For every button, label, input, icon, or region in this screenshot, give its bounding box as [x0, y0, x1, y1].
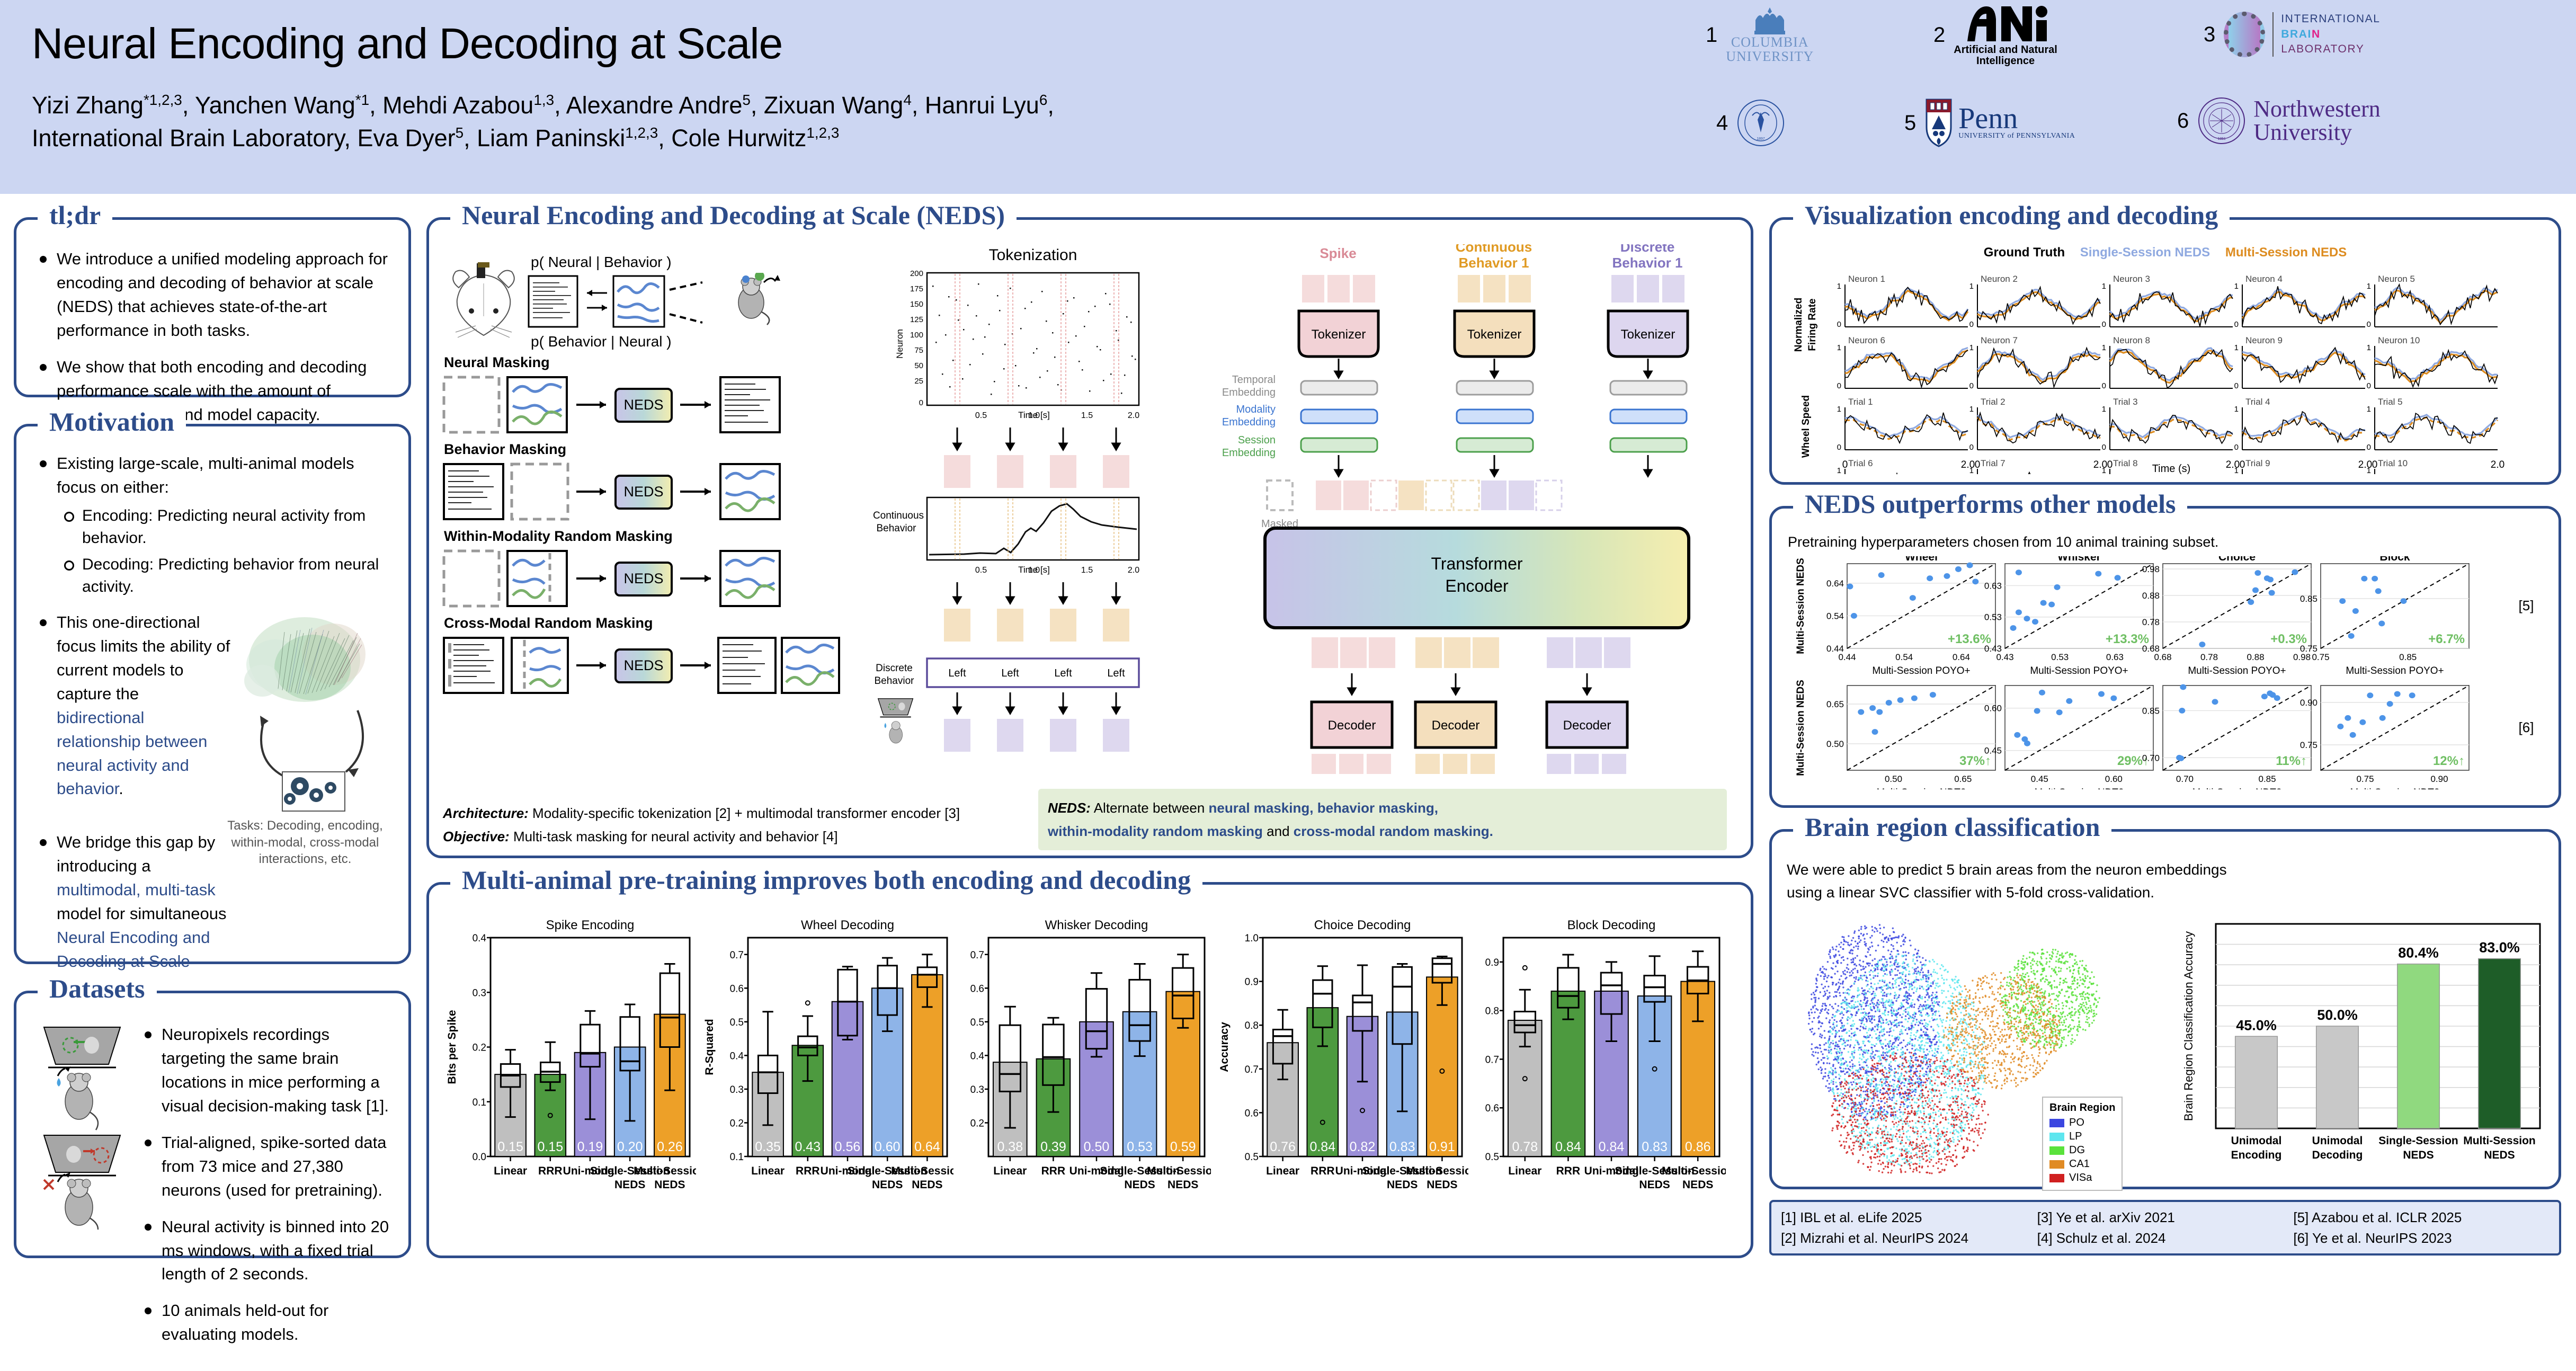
svg-text:1: 1 — [1969, 405, 1974, 414]
reference-item: [5] Azabou et al. ICLR 2025 — [2293, 1207, 2550, 1228]
column-header-continuous-l2: Behavior 1 — [1459, 255, 1529, 271]
modality-embedding-label-l2: Embedding — [1222, 416, 1276, 428]
svg-text:0.85: 0.85 — [2399, 652, 2417, 662]
svg-text:Left: Left — [1107, 667, 1125, 679]
list-item: Trial-aligned, spike-sorted data from 73… — [139, 1131, 390, 1203]
legend-multi-session: Multi-Session NEDS — [2225, 245, 2347, 260]
svg-text:0.85: 0.85 — [2300, 594, 2317, 604]
motivation-bullet-1: Existing large-scale, multi-animal model… — [57, 454, 354, 496]
svg-text:0.2: 0.2 — [970, 1118, 984, 1129]
svg-text:Left: Left — [948, 667, 966, 679]
legend-ground-truth: Ground Truth — [1984, 245, 2065, 260]
task-icon-small — [878, 699, 913, 743]
svg-text:0.7: 0.7 — [970, 950, 984, 961]
list-item: Existing large-scale, multi-animal model… — [34, 452, 390, 598]
svg-text:0.70: 0.70 — [2142, 753, 2160, 763]
svg-text:0.76: 0.76 — [1270, 1139, 1296, 1154]
motivation-b2-a: This one-directional focus limits the ab… — [57, 613, 230, 703]
svg-text:Decoder: Decoder — [1563, 718, 1611, 733]
svg-text:0.54: 0.54 — [1895, 652, 1913, 662]
architecture-objective-notes: Architecture: Modality-specific tokeniza… — [443, 802, 1015, 848]
masking-diagram-cross-modal: NEDS — [441, 634, 849, 697]
svg-text:0: 0 — [2102, 381, 2106, 390]
svg-text:0.19: 0.19 — [577, 1139, 603, 1154]
svg-text:0.45: 0.45 — [1984, 746, 2002, 756]
svg-text:0.90: 0.90 — [2430, 774, 2448, 784]
author-line-1: Yizi Zhang*1,2,3, Yanchen Wang*1, Mehdi … — [32, 89, 1409, 122]
datasets-bullet-list: Neuropixels recordings targeting the sam… — [139, 1023, 390, 1359]
penn-shield-icon — [1924, 99, 1953, 147]
svg-text:0.43: 0.43 — [1996, 652, 2013, 662]
svg-text:0.2: 0.2 — [730, 1118, 744, 1129]
svg-text:0.9: 0.9 — [1485, 957, 1499, 968]
reference-item: [2] Mizrahi et al. NeurIPS 2024 — [1781, 1228, 2037, 1249]
svg-text:0.0: 0.0 — [473, 1152, 486, 1163]
list-item: 10 animals held-out for evaluating model… — [139, 1299, 390, 1347]
svg-text:Whisker: Whisker — [2057, 556, 2101, 563]
svg-text:0.83: 0.83 — [1389, 1139, 1415, 1154]
svg-text:0.5: 0.5 — [975, 411, 987, 420]
svg-text:0.4: 0.4 — [730, 1050, 744, 1062]
arrow-right — [346, 710, 363, 772]
svg-text:1.5: 1.5 — [1081, 411, 1093, 420]
svg-text:1: 1 — [2102, 405, 2106, 414]
svg-text:1: 1 — [1969, 282, 1974, 291]
svg-text:11%↑: 11%↑ — [2276, 754, 2307, 768]
svg-text:0.5: 0.5 — [970, 1017, 984, 1028]
neds-note-highlight-1: neural masking, behavior masking, — [1209, 800, 1438, 816]
svg-text:0.53: 0.53 — [1984, 612, 2002, 622]
svg-text:0: 0 — [2372, 459, 2378, 470]
svg-text:Multi-Session NEDS: Multi-Session NEDS — [1795, 558, 1806, 654]
svg-text:0.53: 0.53 — [2051, 652, 2069, 662]
svg-text:0.3: 0.3 — [970, 1084, 984, 1096]
svg-text:Tokenizer: Tokenizer — [1621, 327, 1675, 342]
masking-row-cross-modal: Cross-Modal Random Masking NEDS — [441, 615, 859, 700]
svg-text:0.20: 0.20 — [617, 1139, 643, 1154]
motivation-bullet-2-list: This one-directional focus limits the ab… — [34, 611, 230, 802]
svg-text:Linear: Linear — [993, 1165, 1027, 1177]
columbia-line-2: UNIVERSITY — [1726, 49, 1814, 64]
svg-text:0.35: 0.35 — [755, 1139, 781, 1154]
svg-text:Wheel Decoding: Wheel Decoding — [801, 918, 894, 932]
ani-mark-icon — [1963, 3, 2048, 44]
discrete-behavior-label-l1: Discrete — [876, 663, 913, 674]
panel-references: [1] IBL et al. eLife 2025 [2] Mizrahi et… — [1769, 1200, 2561, 1256]
svg-text:0.6: 0.6 — [1485, 1103, 1499, 1114]
list-item: We introduce a unified modeling approach… — [34, 247, 390, 343]
svg-text:0.3: 0.3 — [730, 1084, 744, 1096]
svg-text:0.3: 0.3 — [473, 987, 486, 999]
input-tokens-discrete — [1611, 275, 1684, 302]
neds-note-b: and — [1263, 823, 1294, 839]
continuous-behavior-label-l2: Behavior — [877, 523, 917, 534]
masking-schematics: p( Neural | Behavior ) — [441, 250, 859, 700]
outperform-scatter-grid: Multi-Session NEDS[5]Wheel0.440.540.640.… — [1785, 556, 2542, 789]
modality-embedding-bars — [1301, 409, 1687, 423]
panel-title-motivation: Motivation — [38, 408, 186, 435]
svg-text:NEDS: NEDS — [623, 397, 663, 413]
svg-text:0: 0 — [1837, 443, 1841, 452]
panel-title-tldr: tl;dr — [38, 202, 112, 228]
affiliation-number: 1 — [1706, 23, 1717, 47]
legend-swatch-po — [2049, 1119, 2064, 1127]
svg-text:0: 0 — [1969, 320, 1974, 329]
svg-text:0: 0 — [1969, 443, 1974, 452]
svg-text:0.75: 0.75 — [2356, 774, 2374, 784]
svg-text:0.60: 0.60 — [1984, 704, 2002, 714]
svg-text:Multi-Session: Multi-Session — [634, 1165, 696, 1177]
svg-text:Neuron 6: Neuron 6 — [1848, 335, 1885, 345]
panel-title-outperf: NEDS outperforms other models — [1793, 491, 2187, 517]
svg-text:150: 150 — [910, 300, 923, 309]
svg-text:Wheel: Wheel — [1905, 556, 1938, 563]
svg-text:37%↑: 37%↑ — [1959, 754, 1991, 768]
brain-illustration — [244, 617, 366, 702]
affiliation-number: 3 — [2204, 23, 2215, 47]
pretraining-bar-charts: Spike EncodingBits per Spike0.00.10.20.3… — [442, 915, 1726, 1241]
temporal-embedding-label-l2: Embedding — [1222, 387, 1276, 398]
panel-visualization: Visualization encoding and decoding Grou… — [1769, 217, 2561, 485]
svg-text:Multi-Session NDT2: Multi-Session NDT2 — [2192, 787, 2282, 789]
northwestern-line-1: Northwestern — [2253, 97, 2381, 121]
svg-text:Neuron 7: Neuron 7 — [1981, 335, 2018, 345]
svg-text:RRR: RRR — [796, 1165, 820, 1177]
svg-text:1.5: 1.5 — [1081, 566, 1093, 575]
legend-item: DG — [2049, 1144, 2115, 1156]
columbia-crown-icon — [1749, 6, 1790, 35]
affiliation-penn: 5 Penn UNIVERSITY of PENNSYLVANIA — [1904, 99, 2075, 147]
spike-raster-plot: 200175150 12510075 50250 Neuron — [895, 269, 1139, 420]
svg-text:0.54: 0.54 — [1826, 611, 1844, 621]
svg-text:0: 0 — [2102, 443, 2106, 452]
svg-text:0.44: 0.44 — [1838, 652, 1856, 662]
affiliation-number: 2 — [1933, 23, 1945, 47]
svg-text:0.85: 0.85 — [2142, 706, 2160, 716]
legend-swatch-lp — [2049, 1133, 2064, 1141]
continuous-behavior-label-l1: Continuous — [873, 510, 924, 521]
affiliation-number: 6 — [2177, 109, 2189, 133]
encoding-decoding-boxes — [528, 274, 718, 332]
chart-whisker-decoding: Whisker Decoding0.20.30.40.50.60.70.38Li… — [957, 915, 1211, 1241]
svg-text:Multi-Session NDT2: Multi-Session NDT2 — [2350, 787, 2440, 789]
svg-text:0.5: 0.5 — [975, 566, 987, 575]
discrete-behavior-box: LeftLeftLeftLeft — [927, 658, 1139, 687]
svg-text:Multi-Session NEDS: Multi-Session NEDS — [1795, 680, 1806, 776]
legend-item: VISa — [2049, 1172, 2115, 1184]
svg-text:Neuron 9: Neuron 9 — [2245, 335, 2283, 345]
ani-line-2: Intelligence — [1954, 56, 2057, 67]
svg-text:0.83: 0.83 — [1642, 1139, 1668, 1154]
svg-text:0: 0 — [2234, 443, 2239, 452]
task-schematic — [34, 1023, 130, 1230]
svg-text:NEDS: NEDS — [623, 484, 663, 500]
svg-text:2.0: 2.0 — [2358, 459, 2372, 470]
svg-text:0.88: 0.88 — [2142, 591, 2160, 601]
ani-logo: Artificial and Natural Intelligence — [1954, 3, 2057, 67]
panel-neds-architecture: Neural Encoding and Decoding at Scale (N… — [426, 217, 1753, 858]
svg-text:0.84: 0.84 — [1309, 1139, 1335, 1154]
svg-text:0.26: 0.26 — [657, 1139, 683, 1154]
p-behavior-given-neural: p( Behavior | Neural ) — [531, 333, 672, 350]
svg-text:Trial 5: Trial 5 — [2378, 397, 2403, 407]
masking-diagram-behavior: NEDS — [441, 460, 849, 523]
svg-text:0.75: 0.75 — [2312, 652, 2329, 662]
svg-text:0.88: 0.88 — [2247, 652, 2264, 662]
svg-text:Neuron 5: Neuron 5 — [2378, 274, 2415, 284]
svg-text:Linear: Linear — [1266, 1165, 1299, 1177]
svg-text:1851: 1851 — [2217, 137, 2226, 141]
brain-subtitle-line-2: using a linear SVC classifier with 5-fol… — [1787, 881, 2227, 904]
output-token-row — [1312, 637, 1630, 668]
reference-column-3: [5] Azabou et al. ICLR 2025 [6] Ye et al… — [2293, 1207, 2550, 1249]
svg-text:Multi-Session POYO+: Multi-Session POYO+ — [2346, 665, 2444, 676]
mouse-wheel-icon — [724, 273, 787, 326]
chart-wheel-decoding: Wheel DecodingR-Squared0.10.20.30.40.50.… — [699, 915, 953, 1241]
panel-title-pretrain: Multi-animal pre-training improves both … — [450, 867, 1202, 893]
penn-subtitle: UNIVERSITY of PENNSYLVANIA — [1958, 132, 2075, 140]
svg-text:Trial 1: Trial 1 — [1848, 397, 1873, 407]
motivation-b3-a: We bridge this gap by introducing a — [57, 833, 215, 875]
svg-text:0.78: 0.78 — [2142, 617, 2160, 627]
panel-outperforms: NEDS outperforms other models Pretrainin… — [1769, 506, 2561, 808]
svg-text:Left: Left — [1001, 667, 1019, 679]
list-item: Neuropixels recordings targeting the sam… — [139, 1023, 390, 1118]
svg-text:Normalized: Normalized — [1793, 298, 1804, 352]
svg-text:Choice Decoding: Choice Decoding — [1314, 918, 1411, 932]
spike-tokens — [944, 455, 1129, 488]
affiliation-zhejiang: 4 1897 — [1716, 99, 1785, 147]
continuous-token-arrows — [953, 582, 1120, 603]
svg-text:Trial 10: Trial 10 — [2378, 458, 2408, 468]
svg-text:1: 1 — [1837, 405, 1841, 414]
svg-text:0.64: 0.64 — [914, 1139, 940, 1154]
svg-text:0.60: 0.60 — [2105, 774, 2123, 784]
svg-text:0: 0 — [2367, 381, 2371, 390]
svg-text:0.65: 0.65 — [1826, 699, 1844, 709]
svg-text:0.5: 0.5 — [1485, 1152, 1499, 1163]
svg-text:0.6: 0.6 — [730, 983, 744, 994]
panel-title-brain: Brain region classification — [1793, 814, 2111, 840]
svg-text:0.4: 0.4 — [473, 933, 487, 944]
svg-text:0.8: 0.8 — [1485, 1006, 1499, 1017]
svg-text:1: 1 — [2234, 343, 2239, 352]
svg-text:RRR: RRR — [1041, 1165, 1066, 1177]
svg-text:0.9: 0.9 — [1245, 977, 1259, 988]
svg-text:0.6: 0.6 — [1245, 1108, 1259, 1119]
svg-text:Neuron 10: Neuron 10 — [2378, 335, 2420, 345]
svg-text:Neuron 3: Neuron 3 — [2113, 274, 2150, 284]
svg-text:Block: Block — [2379, 556, 2410, 563]
svg-text:0.91: 0.91 — [1429, 1139, 1455, 1154]
svg-text:Multi-Session POYO+: Multi-Session POYO+ — [2030, 665, 2128, 676]
decoder-continuous: Decoder — [1415, 702, 1496, 747]
svg-text:1: 1 — [1837, 466, 1841, 474]
svg-text:[6]: [6] — [2519, 719, 2534, 735]
legend-swatch-visa — [2049, 1174, 2064, 1182]
architecture-note: Architecture: Modality-specific tokeniza… — [443, 802, 1015, 825]
session-embedding-bars — [1301, 438, 1687, 452]
svg-text:2.0: 2.0 — [1128, 566, 1139, 575]
svg-text:0: 0 — [2367, 443, 2371, 452]
svg-text:Accuracy: Accuracy — [1218, 1022, 1231, 1072]
svg-text:NEDS: NEDS — [614, 1179, 645, 1191]
svg-text:1: 1 — [2234, 282, 2239, 291]
svg-text:0.90: 0.90 — [2300, 698, 2317, 708]
transformer-pipeline: Spike Continuous Behavior 1 Discrete Beh… — [1208, 244, 1743, 777]
legend-label-dg: DG — [2069, 1144, 2085, 1156]
svg-text:Trial 6: Trial 6 — [1848, 458, 1873, 468]
svg-text:0.82: 0.82 — [1350, 1139, 1376, 1154]
affiliation-logos: 1 COLUMBIA UNIVERSITY 2 — [1706, 3, 2569, 191]
svg-text:Choice: Choice — [2218, 556, 2256, 563]
svg-text:NEDS: NEDS — [912, 1179, 942, 1191]
transformer-label-l2: Encoder — [1445, 576, 1509, 595]
svg-text:0: 0 — [2234, 320, 2239, 329]
viz-grid: Neuron 110Neuron 210Neuron 310Neuron 410… — [1786, 268, 2543, 474]
motivation-b3-highlight-1: multimodal, multi-task — [57, 880, 216, 899]
svg-text:12%↑: 12%↑ — [2433, 754, 2465, 768]
svg-text:Decoder: Decoder — [1328, 718, 1376, 733]
svg-text:0.7: 0.7 — [1245, 1064, 1259, 1075]
list-item: Neural activity is binned into 20 ms win… — [139, 1215, 390, 1287]
neds-note-highlight-3: cross-modal random masking. — [1294, 823, 1493, 839]
svg-text:+6.7%: +6.7% — [2428, 632, 2465, 646]
svg-text:Neuron 4: Neuron 4 — [2245, 274, 2283, 284]
svg-text:0.8: 0.8 — [1245, 1020, 1259, 1031]
svg-text:0.43: 0.43 — [795, 1139, 821, 1154]
svg-text:0.6: 0.6 — [970, 983, 984, 994]
svg-text:Time [s]: Time [s] — [1018, 565, 1050, 575]
affiliation-northwestern: 6 1851 Northwestern University — [2177, 96, 2381, 145]
continuous-tokens — [944, 609, 1129, 642]
page-title: Neural Encoding and Decoding at Scale — [32, 19, 782, 69]
author-line-2: International Brain Laboratory, Eva Dyer… — [32, 122, 1409, 155]
svg-text:Trial 8: Trial 8 — [2113, 458, 2138, 468]
transformer-label-l1: Transformer — [1431, 554, 1522, 573]
legend-label-po: PO — [2069, 1117, 2084, 1129]
mouse-head-probe-icon — [444, 262, 523, 342]
ibl-line-2: BRAIN — [2281, 27, 2380, 42]
viz-legend: Ground Truth Single-Session NEDS Multi-S… — [1772, 245, 2559, 260]
tokenizer-discrete: Tokenizer — [1608, 311, 1688, 357]
svg-text:Multi-Session: Multi-Session — [1662, 1165, 1726, 1177]
svg-text:Firing Rate: Firing Rate — [1807, 298, 1818, 351]
svg-text:0.98: 0.98 — [2142, 564, 2160, 574]
masking-row-behavior: Behavior Masking NEDS — [441, 441, 859, 526]
svg-text:1: 1 — [2367, 282, 2371, 291]
svg-text:Spike Encoding: Spike Encoding — [546, 918, 635, 932]
mouse-icon-1 — [57, 1066, 99, 1130]
svg-text:2.0: 2.0 — [1961, 459, 1975, 470]
svg-text:1: 1 — [2234, 405, 2239, 414]
masked-token-row — [1316, 480, 1562, 510]
legend-title: Brain Region — [2049, 1102, 2115, 1114]
modality-embedding-label-l1: Modality — [1236, 404, 1276, 415]
svg-text:Multi-Session POYO+: Multi-Session POYO+ — [2188, 665, 2286, 676]
svg-text:0.64: 0.64 — [1953, 652, 1970, 662]
svg-text:0.84: 0.84 — [1555, 1139, 1581, 1154]
legend-item: PO — [2049, 1117, 2115, 1129]
ani-line-1: Artificial and Natural — [1954, 44, 2057, 56]
affiliation-columbia: 1 COLUMBIA UNIVERSITY — [1706, 6, 1814, 64]
reference-column-2: [3] Ye et al. arXiv 2021 [4] Schulz et a… — [2037, 1207, 2294, 1249]
svg-text:Neuron 1: Neuron 1 — [1848, 274, 1885, 284]
legend-label-lp: LP — [2069, 1130, 2082, 1143]
input-tokens-spike — [1302, 275, 1375, 302]
objective-text: Multi-task masking for neural activity a… — [510, 829, 838, 844]
column-header-discrete-l1: Discrete — [1620, 244, 1675, 255]
legend-swatch-ca1 — [2049, 1160, 2064, 1169]
panel-tldr: tl;dr We introduce a unified modeling ap… — [14, 217, 411, 397]
svg-text:0.70: 0.70 — [2176, 774, 2194, 784]
svg-text:R-Squared: R-Squared — [703, 1019, 716, 1075]
svg-text:0.86: 0.86 — [1685, 1139, 1711, 1154]
svg-text:0: 0 — [2234, 381, 2239, 390]
spike-token-arrows — [953, 428, 1120, 450]
svg-text:0.78: 0.78 — [2200, 652, 2218, 662]
svg-text:NEDS: NEDS — [1167, 1179, 1198, 1191]
svg-text:Multi-Session: Multi-Session — [1406, 1165, 1468, 1177]
panel-title-neds: Neural Encoding and Decoding at Scale (N… — [450, 202, 1017, 228]
objective-note: Objective: Multi-task masking for neural… — [443, 825, 1015, 848]
svg-text:0.1: 0.1 — [730, 1152, 744, 1163]
brain-gears-diagram — [225, 601, 395, 834]
panel-datasets: Datasets — [14, 991, 411, 1258]
svg-text:Wheel Speed: Wheel Speed — [1800, 395, 1812, 458]
ibl-line-1: INTERNATIONAL — [2281, 12, 2380, 26]
svg-text:NEDS: NEDS — [654, 1179, 685, 1191]
column-header-continuous-l1: Continuous — [1456, 244, 1532, 255]
svg-text:0: 0 — [2240, 459, 2245, 470]
svg-text:0.4: 0.4 — [970, 1050, 985, 1062]
svg-text:0.39: 0.39 — [1040, 1139, 1066, 1154]
masking-label: Neural Masking — [444, 354, 859, 371]
svg-text:125: 125 — [910, 315, 923, 324]
brain-region-legend: Brain Region PO LP DG CA1 VISa — [2042, 1097, 2123, 1191]
reference-item: [4] Schulz et al. 2024 — [2037, 1228, 2294, 1249]
svg-text:0: 0 — [1837, 381, 1841, 390]
screen-bottom — [44, 1135, 120, 1172]
svg-text:0.56: 0.56 — [835, 1139, 861, 1154]
reference-item: [1] IBL et al. eLife 2025 — [1781, 1207, 2037, 1228]
list-item: Decoding: Predicting behavior from neura… — [57, 554, 390, 598]
svg-text:Trial 9: Trial 9 — [2245, 458, 2270, 468]
svg-text:1: 1 — [2102, 282, 2106, 291]
screen-top — [44, 1027, 120, 1064]
northwestern-line-2: University — [2253, 121, 2381, 144]
svg-text:Time (s): Time (s) — [2152, 463, 2191, 474]
legend-swatch-dg — [2049, 1146, 2064, 1155]
penn-wordmark: Penn — [1958, 105, 2075, 132]
svg-text:Multi-Session NDT2: Multi-Session NDT2 — [1877, 787, 1966, 789]
svg-text:0.7: 0.7 — [1485, 1054, 1499, 1065]
panel-brain-region: Brain region classification We were able… — [1769, 829, 2561, 1189]
svg-text:NEDS: NEDS — [623, 657, 663, 673]
tasks-caption: Tasks: Decoding, encoding, within-modal,… — [218, 817, 393, 867]
svg-text:200: 200 — [910, 269, 923, 278]
architecture-text: Modality-specific tokenization [2] + mul… — [529, 805, 960, 821]
column-header-discrete-l2: Behavior 1 — [1612, 255, 1683, 271]
svg-text:RRR: RRR — [1556, 1165, 1581, 1177]
column-header-spike: Spike — [1320, 245, 1356, 261]
masked-legend: Masked — [1261, 480, 1298, 530]
zhejiang-seal-icon: 1897 — [1736, 99, 1785, 147]
svg-text:0.7: 0.7 — [730, 950, 744, 961]
masking-row-neural: Neural Masking NEDS — [441, 354, 859, 439]
tokenization-title: Tokenization — [869, 246, 1197, 264]
brain-subtitle-line-1: We were able to predict 5 brain areas fr… — [1787, 858, 2227, 881]
